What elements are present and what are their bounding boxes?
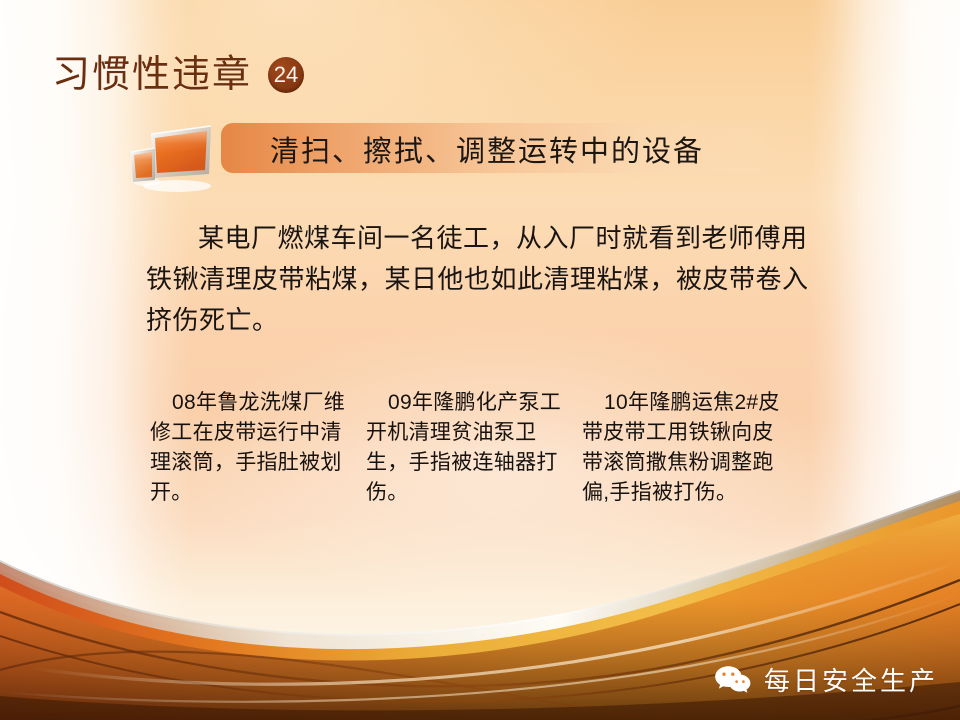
case-column-1: 08年鲁龙洗煤厂维修工在皮带运行中清理滚筒，手指肚被划开。 <box>150 388 350 508</box>
body-paragraph: 某电厂燃煤车间一名徒工，从入厂时就看到老师傅用铁锹清理皮带粘煤，某日他也如此清理… <box>146 218 826 341</box>
slide-number-badge: 24 <box>268 57 304 93</box>
section-banner: 清扫、擦拭、调整运转中的设备 <box>125 116 825 194</box>
banner-title: 清扫、擦拭、调整运转中的设备 <box>270 128 704 170</box>
wechat-icon <box>714 664 752 696</box>
footer-label: 每日安全生产 <box>764 661 938 698</box>
page-title: 习惯性违章24 <box>52 43 304 98</box>
page-title-text: 习惯性违章 <box>52 54 252 96</box>
case-column-3: 10年隆鹏运焦2#皮带皮带工用铁锹向皮带滚筒撒焦粉调整跑偏,手指被打伤。 <box>582 388 790 508</box>
case-column-2: 09年隆鹏化产泵工开机清理贫油泵卫生，手指被连轴器打伤。 <box>366 388 566 508</box>
case-columns: 08年鲁龙洗煤厂维修工在皮带运行中清理滚筒，手指肚被划开。 09年隆鹏化产泵工开… <box>150 388 850 508</box>
footer-watermark: 每日安全生产 <box>714 661 938 698</box>
monitor-screens-icon <box>125 118 217 194</box>
presentation-slide: 习惯性违章24 <box>0 0 960 720</box>
